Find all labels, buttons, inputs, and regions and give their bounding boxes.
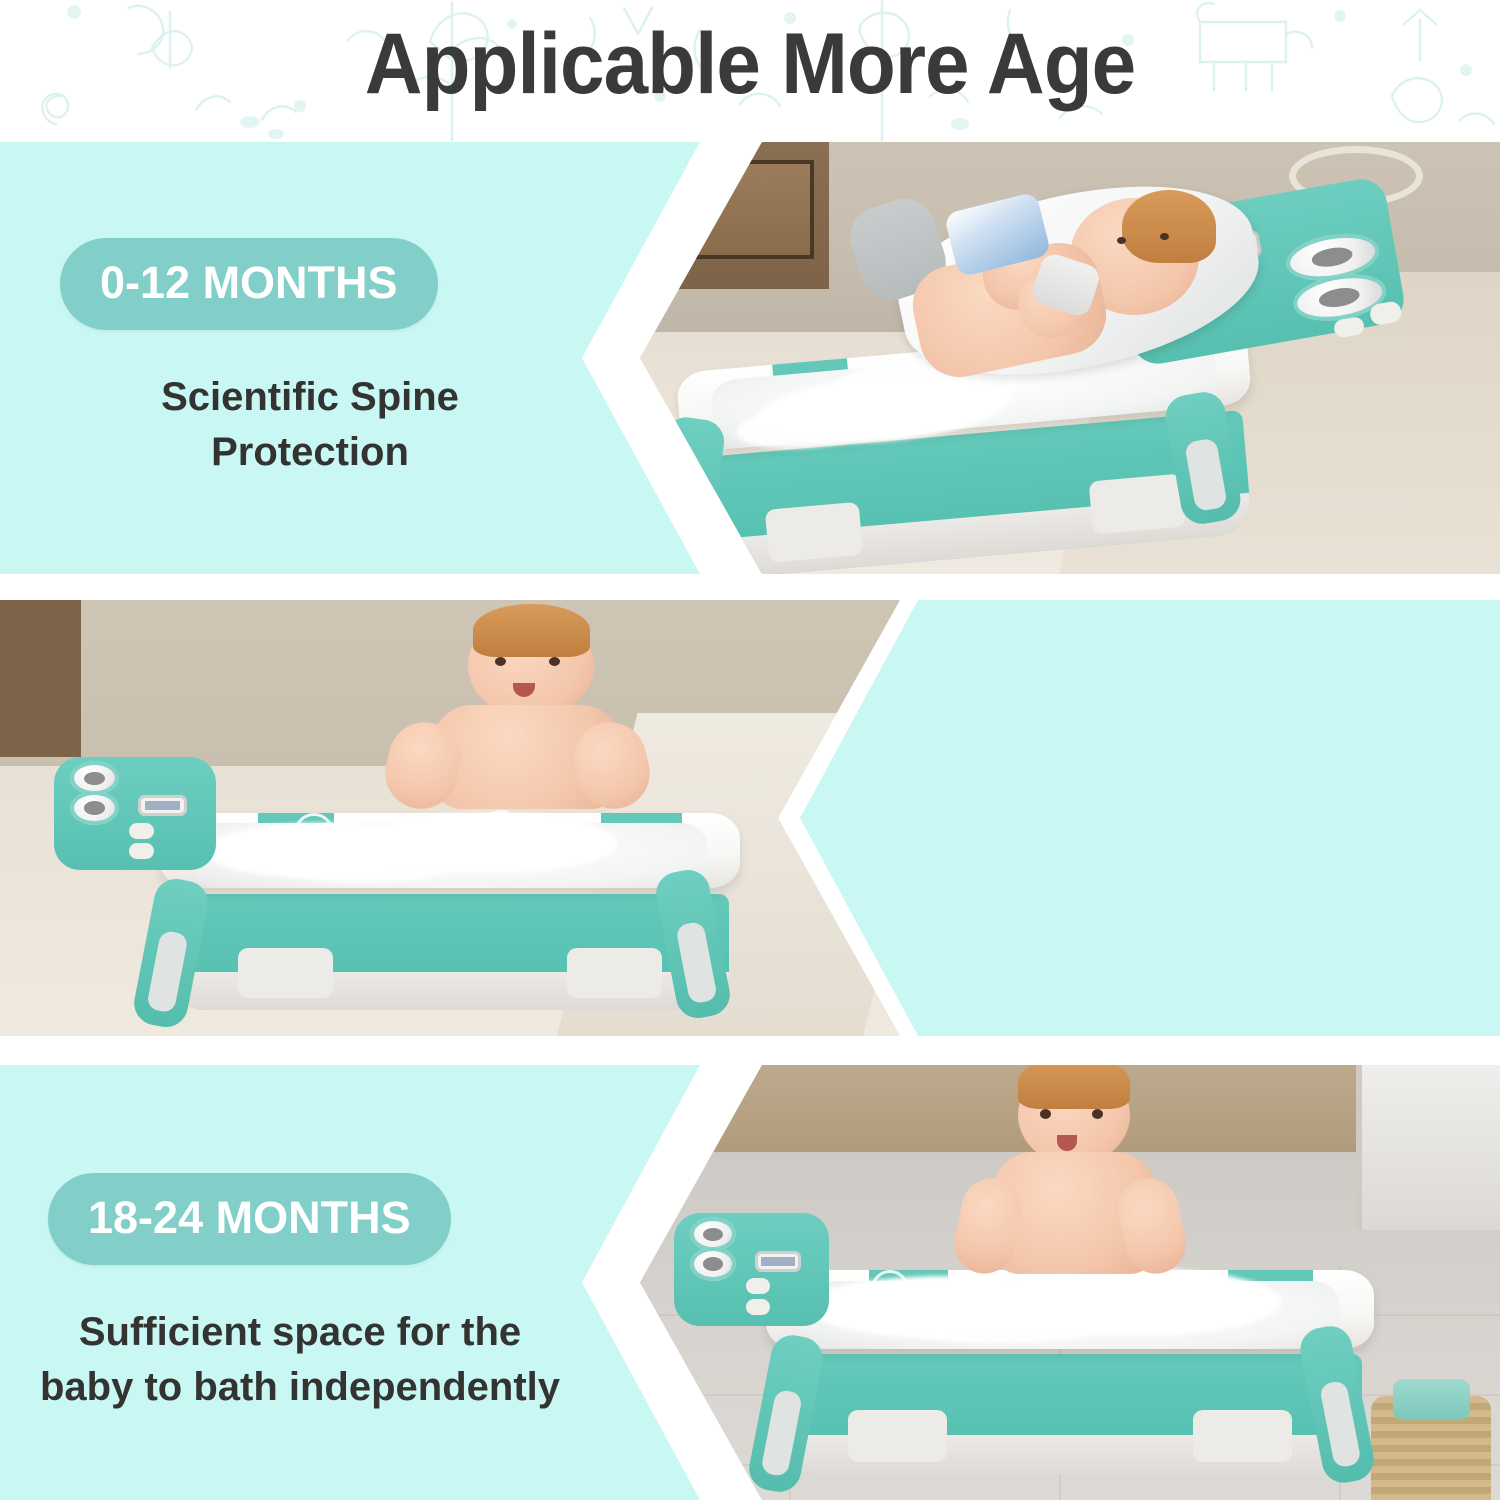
- infographic-page: Applicable More Age 0-12 MONTHS Scientif…: [0, 0, 1500, 1500]
- text-panel-18-24-months: 18-24 MONTHS Sufficient space for the ba…: [0, 1065, 700, 1500]
- feature-caption-18-24-months: Sufficient space for the baby to bath in…: [0, 1305, 600, 1415]
- product-photo-12-18-months: [0, 600, 900, 1036]
- product-photo-0-12-months: [640, 142, 1500, 574]
- baby-hair: [1122, 190, 1217, 263]
- frog-face-end: [674, 1213, 829, 1326]
- thermometer-display: [138, 795, 187, 815]
- frog-face-end: [54, 757, 216, 870]
- wooden-cabinet: [0, 600, 81, 757]
- feature-row-18-24-months: 18-24 MONTHS Sufficient space for the ba…: [0, 1065, 1500, 1500]
- page-header: Applicable More Age: [0, 0, 1500, 142]
- baby-hair: [1018, 1065, 1130, 1109]
- text-panel-12-18-months: 12-18 MONTHS Baby Sit Up Bathing: [800, 600, 1500, 1036]
- feature-caption-0-12-months: Scientific Spine Protection: [0, 370, 620, 480]
- woven-basket: [1371, 1396, 1491, 1500]
- age-badge-18-24-months: 18-24 MONTHS: [48, 1173, 451, 1265]
- product-photo-18-24-months: [640, 1065, 1500, 1500]
- thermometer-display: [755, 1251, 801, 1271]
- page-title: Applicable More Age: [53, 14, 1448, 114]
- feature-row-12-18-months: 12-18 MONTHS Baby Sit Up Bathing: [0, 600, 1500, 1036]
- baby-hair: [473, 604, 590, 656]
- vanity-cabinet: [1356, 1065, 1500, 1230]
- text-panel-0-12-months: 0-12 MONTHS Scientific Spine Protection: [0, 142, 700, 574]
- feature-row-0-12-months: 0-12 MONTHS Scientific Spine Protection: [0, 142, 1500, 574]
- age-badge-0-12-months: 0-12 MONTHS: [60, 238, 438, 330]
